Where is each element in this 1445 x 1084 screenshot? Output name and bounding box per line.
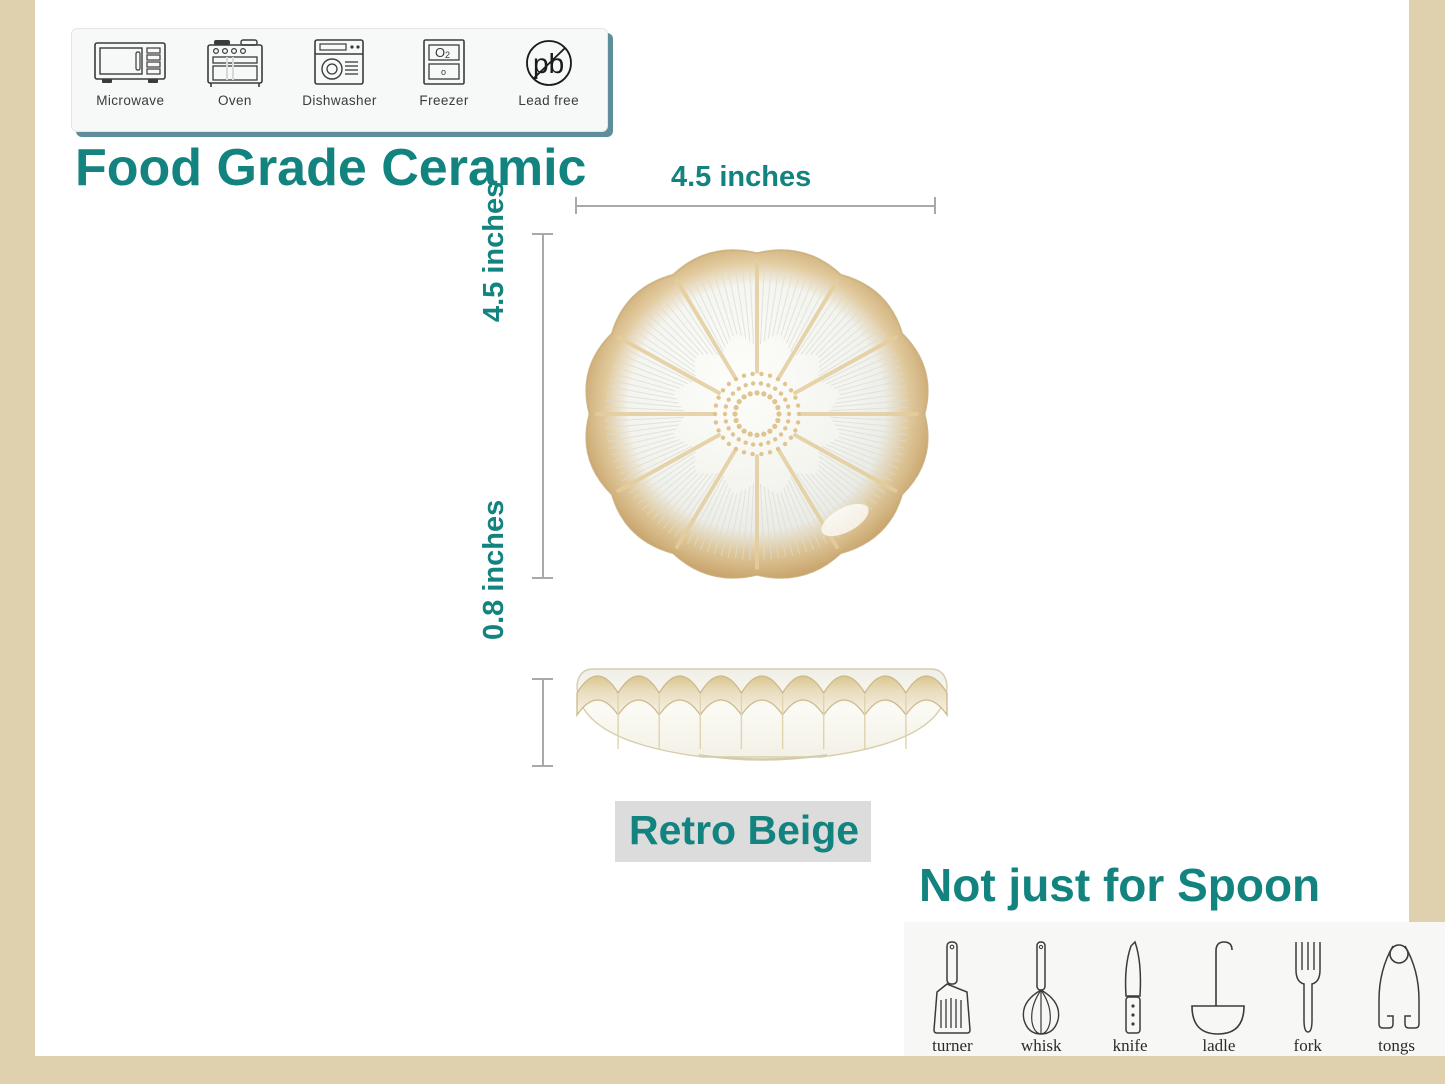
badge-lead-free: pb Lead free	[499, 36, 599, 124]
microwave-icon	[93, 36, 167, 90]
dimension-depth-label: 0.8 inches	[480, 600, 509, 640]
utensil-tongs: tongs	[1355, 936, 1439, 1054]
infographic-page: Microwave	[0, 0, 1445, 1084]
lead-free-icon: pb	[523, 36, 575, 90]
badge-microwave: Microwave	[80, 36, 180, 124]
badge-dishwasher: Dishwasher	[289, 36, 389, 124]
turner-icon	[925, 936, 979, 1036]
fork-icon	[1286, 936, 1330, 1036]
utensil-label: ladle	[1202, 1037, 1235, 1054]
ladle-icon	[1188, 936, 1250, 1036]
svg-text:2: 2	[445, 50, 450, 60]
dimension-width-line	[575, 205, 936, 207]
knife-icon	[1109, 936, 1151, 1036]
utensil-knife: knife	[1088, 936, 1172, 1054]
dimension-depth-cap-top	[532, 678, 553, 680]
dimension-height-cap-top	[532, 233, 553, 235]
dimension-width-cap-left	[575, 197, 577, 214]
utensil-fork: fork	[1266, 936, 1350, 1054]
badge-label: Freezer	[419, 93, 468, 108]
svg-text:o: o	[441, 67, 446, 77]
dimension-width-label: 4.5 inches	[671, 163, 811, 192]
badge-oven: Oven	[185, 36, 285, 124]
utensil-label: whisk	[1021, 1037, 1062, 1054]
dimension-height-label: 4.5 inches	[480, 282, 509, 322]
utensil-whisk: whisk	[999, 936, 1083, 1054]
product-plate-top-view	[559, 224, 955, 604]
product-plate-side-view	[571, 645, 953, 771]
dimension-width-cap-right	[934, 197, 936, 214]
utensil-turner: turner	[910, 936, 994, 1054]
dimension-height-line	[542, 233, 544, 578]
color-name-label: Retro Beige	[615, 801, 871, 862]
whisk-icon	[1014, 936, 1068, 1036]
utensil-label: fork	[1294, 1037, 1322, 1054]
badge-freezer: O 2 o Freezer	[394, 36, 494, 124]
oven-icon	[205, 36, 265, 90]
dishwasher-icon	[312, 36, 366, 90]
utensil-label: turner	[932, 1037, 973, 1054]
dimension-height-cap-bottom	[532, 577, 553, 579]
utensil-label: knife	[1113, 1037, 1148, 1054]
badge-label: Oven	[218, 93, 252, 108]
badge-label: Microwave	[96, 93, 164, 108]
svg-text:O: O	[435, 45, 445, 60]
dimension-depth-line	[542, 678, 544, 766]
tongs-icon	[1369, 936, 1425, 1036]
page-title-not-just-for-spoon: Not just for Spoon	[919, 862, 1320, 908]
white-content-panel: Microwave	[35, 0, 1409, 1056]
utensil-icons-panel: turner whisk	[904, 922, 1445, 1056]
utensil-label: tongs	[1378, 1037, 1415, 1054]
feature-badge-bar: Microwave	[71, 28, 608, 132]
badge-label: Dishwasher	[302, 93, 377, 108]
dimension-depth-cap-bottom	[532, 765, 553, 767]
badge-label: Lead free	[518, 93, 579, 108]
freezer-icon: O 2 o	[421, 36, 467, 90]
utensil-ladle: ladle	[1177, 936, 1261, 1054]
